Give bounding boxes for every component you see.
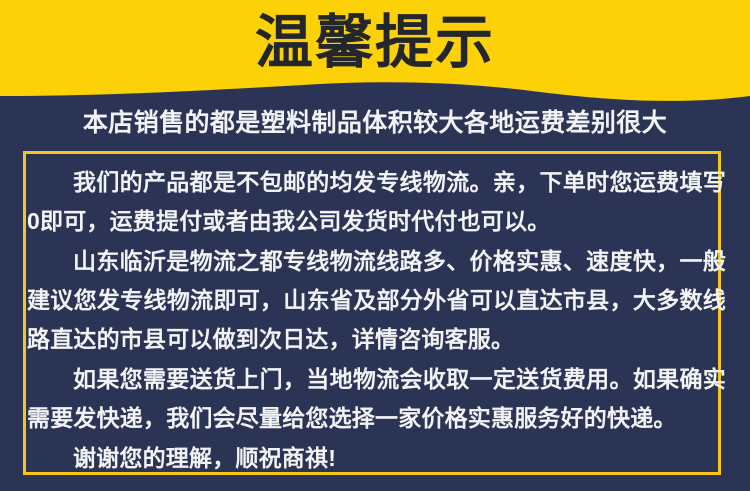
- page-title: 温馨提示: [0, 6, 750, 80]
- notice-paragraph-1: 我们的产品都是不包邮的均发专线物流。亲，下单时您运费填写0即可，运费提付或者由我…: [27, 163, 726, 241]
- notice-body: 我们的产品都是不包邮的均发专线物流。亲，下单时您运费填写0即可，运费提付或者由我…: [27, 163, 727, 478]
- notice-paragraph-3: 如果您需要送货上门，当地物流会收取一定送货费用。如果确实需要发快递，我们会尽量给…: [27, 360, 726, 438]
- banner-header: 温馨提示 本店销售的都是塑料制品体积较大各地运费差别很大: [0, 0, 750, 150]
- banner-subtitle: 本店销售的都是塑料制品体积较大各地运费差别很大: [0, 107, 750, 139]
- notice-paragraph-4: 谢谢您的理解，顺祝商祺!: [27, 439, 726, 478]
- notice-paragraph-2: 山东临沂是物流之都专线物流线路多、价格实惠、速度快，一般建议您发专线物流即可，山…: [27, 242, 726, 359]
- promo-notice-poster: 温馨提示 本店销售的都是塑料制品体积较大各地运费差别很大 我们的产品都是不包邮的…: [0, 0, 750, 491]
